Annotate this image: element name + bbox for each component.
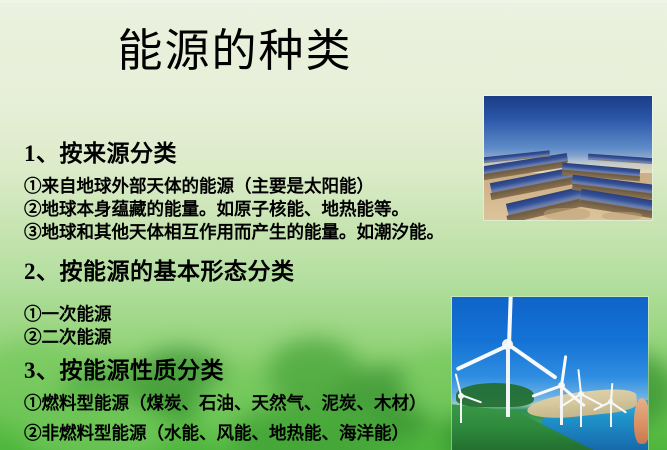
section-3-item-2: ②非燃料型能源（水能、风能、地热能、海洋能）	[24, 422, 454, 445]
foreground-rock	[634, 398, 648, 444]
section-3-item-1: ①燃料型能源（煤炭、石油、天然气、泥炭、木材）	[24, 392, 454, 415]
section-3-heading: 3、按能源性质分类	[24, 356, 454, 385]
section-1-heading: 1、按来源分类	[24, 139, 454, 168]
coastal-wind-farm-image	[452, 297, 648, 450]
trees	[456, 383, 534, 407]
section-1-item-1: ①来自地球外部天体的能源（主要是太阳能）	[24, 175, 454, 198]
slide-top-edge-strip	[0, 0, 667, 5]
section-1-item-3: ③地球和其他天体相互作用而产生的能量。如潮汐能。	[24, 221, 454, 244]
slide-body: 1、按来源分类 ①来自地球外部天体的能源（主要是太阳能） ②地球本身蕴藏的能量。…	[24, 139, 454, 445]
slide-title: 能源的种类	[0, 28, 470, 75]
section-2-item-2: ②二次能源	[24, 326, 454, 349]
section-2-heading: 2、按能源的基本形态分类	[24, 257, 454, 286]
section-1-item-2: ②地球本身蕴藏的能量。如原子核能、地热能等。	[24, 198, 454, 221]
section-2-item-1: ①一次能源	[24, 303, 454, 326]
presentation-slide: 能源的种类 1、按来源分类 ①来自地球外部天体的能源（主要是太阳能） ②地球本身…	[0, 0, 667, 450]
solar-thermal-farm-image	[484, 96, 652, 220]
